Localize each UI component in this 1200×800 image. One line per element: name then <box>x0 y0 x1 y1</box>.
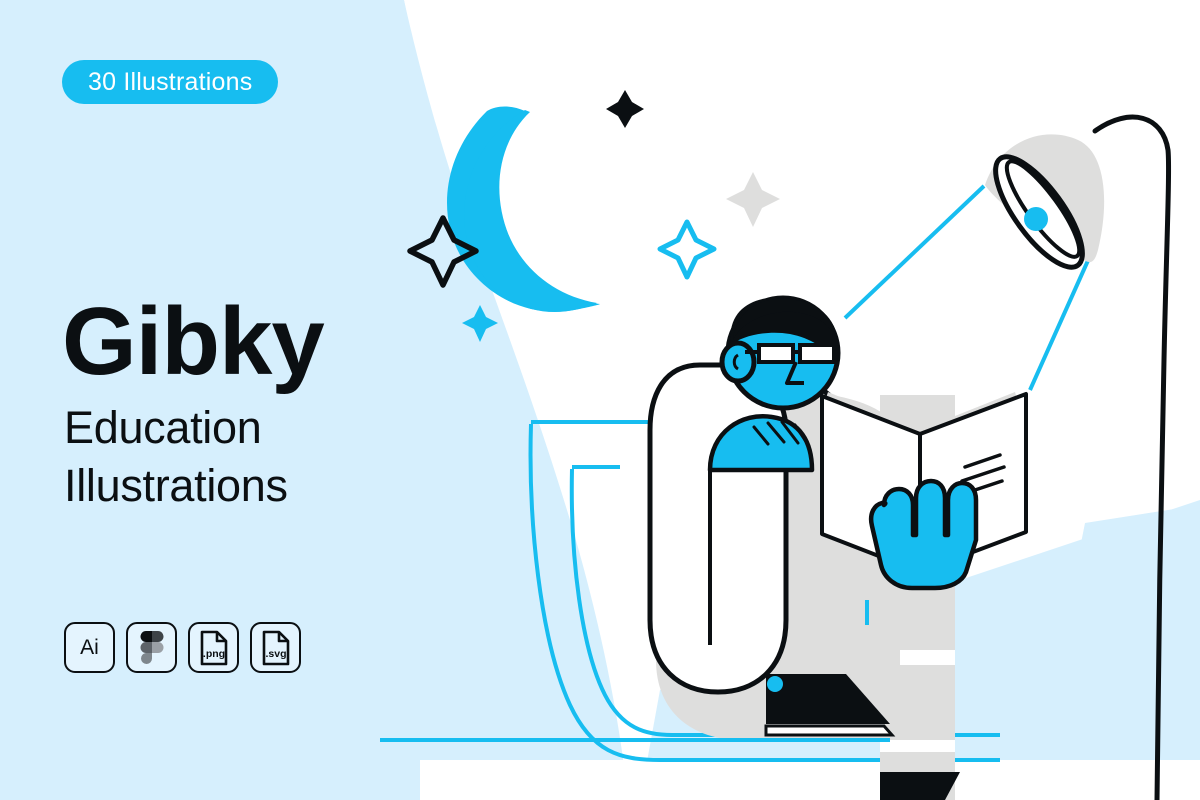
laptop-camera-dot <box>767 676 783 692</box>
svg-text:.svg: .svg <box>265 648 286 660</box>
format-badge-png[interactable]: .png <box>188 622 239 673</box>
format-badge-figma[interactable] <box>126 622 177 673</box>
format-badge-ai[interactable]: Ai <box>64 622 115 673</box>
person-hand <box>871 481 976 588</box>
lamp-bulb <box>1024 207 1048 231</box>
glasses-left-lens <box>759 345 793 362</box>
desk-lower <box>880 740 955 752</box>
illustration-count-label: 30 Illustrations <box>88 68 252 97</box>
adobe-illustrator-icon: Ai <box>80 637 99 658</box>
png-file-icon: .png <box>199 630 229 666</box>
illustration-cover: 30 Illustrations Gibky Education Illustr… <box>0 0 1200 800</box>
format-badge-list: Ai .png <box>64 622 301 673</box>
person-ear <box>722 343 754 381</box>
illustration-artwork <box>0 0 1200 800</box>
illustration-count-badge[interactable]: 30 Illustrations <box>62 60 278 104</box>
laptop-base <box>766 726 892 735</box>
glasses-right-lens <box>800 345 834 362</box>
lower-white-foreground <box>420 760 1200 800</box>
format-badge-svg[interactable]: .svg <box>250 622 301 673</box>
figma-icon <box>140 631 164 665</box>
svg-text:.png: .png <box>202 648 224 660</box>
svg-file-icon: .svg <box>261 630 291 666</box>
